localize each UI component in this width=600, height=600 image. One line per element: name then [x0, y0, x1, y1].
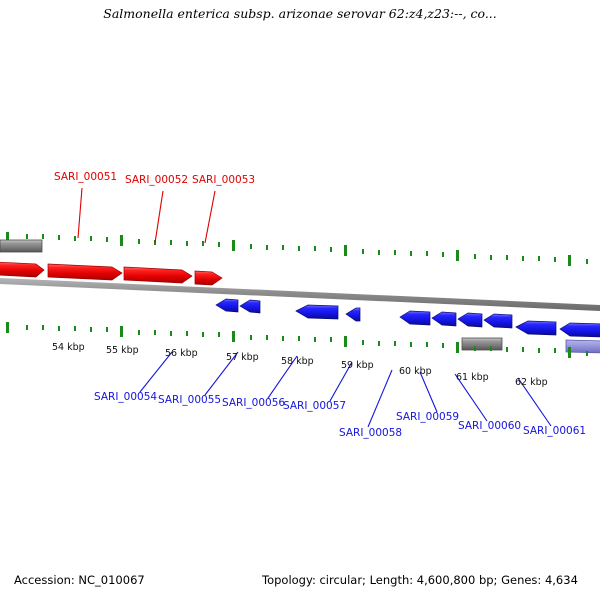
scale-tick-label: 57 kbp — [226, 352, 259, 363]
leader-line — [205, 191, 215, 243]
gene-label-forward[interactable]: SARI_00053 — [192, 174, 255, 186]
gene-arrow-forward[interactable] — [0, 262, 44, 277]
gene-label-reverse[interactable]: SARI_00054 — [94, 391, 157, 403]
gene-label-forward[interactable]: SARI_00051 — [54, 171, 117, 183]
feature-box-gray-mid[interactable] — [462, 338, 502, 350]
gene-label-reverse[interactable]: SARI_00057 — [283, 400, 346, 412]
gene-arrow-reverse[interactable] — [400, 311, 430, 325]
scale-tick-label: 62 kbp — [515, 377, 548, 388]
gene-arrow-forward[interactable] — [48, 264, 122, 280]
gene-arrow-reverse[interactable] — [296, 305, 338, 319]
gene-arrow-forward[interactable] — [195, 271, 222, 285]
gene-arrow-forward[interactable] — [124, 267, 192, 283]
leader-line — [155, 191, 163, 243]
gene-label-reverse[interactable]: SARI_00055 — [158, 394, 221, 406]
gene-label-reverse[interactable]: SARI_00056 — [222, 397, 285, 409]
gene-label-forward[interactable]: SARI_00052 — [125, 174, 188, 186]
gene-arrow-reverse[interactable] — [240, 300, 260, 313]
forward-gene-labels[interactable]: SARI_00051 SARI_00052 SARI_00053 — [54, 171, 255, 186]
genome-map-canvas[interactable]: SARI_00051 SARI_00052 SARI_00053 SARI_00… — [0, 0, 600, 600]
scale-tick-label: 60 kbp — [399, 366, 432, 377]
gene-arrow-reverse[interactable] — [484, 314, 512, 328]
gene-label-reverse[interactable]: SARI_00061 — [523, 425, 586, 437]
gene-label-reverse[interactable]: SARI_00059 — [396, 411, 459, 423]
scale-tick-label: 58 kbp — [281, 356, 314, 367]
feature-box-gray-left[interactable] — [0, 240, 42, 252]
scale-tick-label: 54 kbp — [52, 342, 85, 353]
gene-arrow-reverse[interactable] — [432, 312, 456, 326]
scale-tick-label: 61 kbp — [456, 372, 489, 383]
leader-line — [420, 372, 437, 412]
gene-arrow-reverse[interactable] — [516, 321, 556, 335]
gene-arrow-reverse[interactable] — [216, 299, 238, 312]
genome-stats-text: Topology: circular; Length: 4,600,800 bp… — [262, 573, 578, 587]
scale-tick-label: 55 kbp — [106, 345, 139, 356]
scale-tick-label: 56 kbp — [165, 348, 198, 359]
leader-line — [368, 370, 392, 427]
backbone-strand-upper — [0, 278, 600, 311]
gene-arrow-reverse[interactable] — [458, 313, 482, 327]
gene-arrow-reverse[interactable] — [560, 323, 600, 337]
feature-box-lightblue-right[interactable] — [566, 340, 600, 353]
tick-row-upper — [6, 232, 588, 266]
leader-line — [78, 188, 82, 238]
scale-tick-label: 59 kbp — [341, 360, 374, 371]
leader-lines-forward — [78, 188, 215, 243]
gene-label-reverse[interactable]: SARI_00060 — [458, 420, 521, 432]
genome-map-viewer[interactable]: Salmonella enterica subsp. arizonae sero… — [0, 0, 600, 600]
gene-arrow-reverse[interactable] — [346, 308, 360, 321]
reverse-gene-labels[interactable]: SARI_00054 SARI_00055 SARI_00056 SARI_00… — [94, 391, 586, 439]
accession-text: Accession: NC_010067 — [14, 573, 145, 587]
gene-label-reverse[interactable]: SARI_00058 — [339, 427, 402, 439]
